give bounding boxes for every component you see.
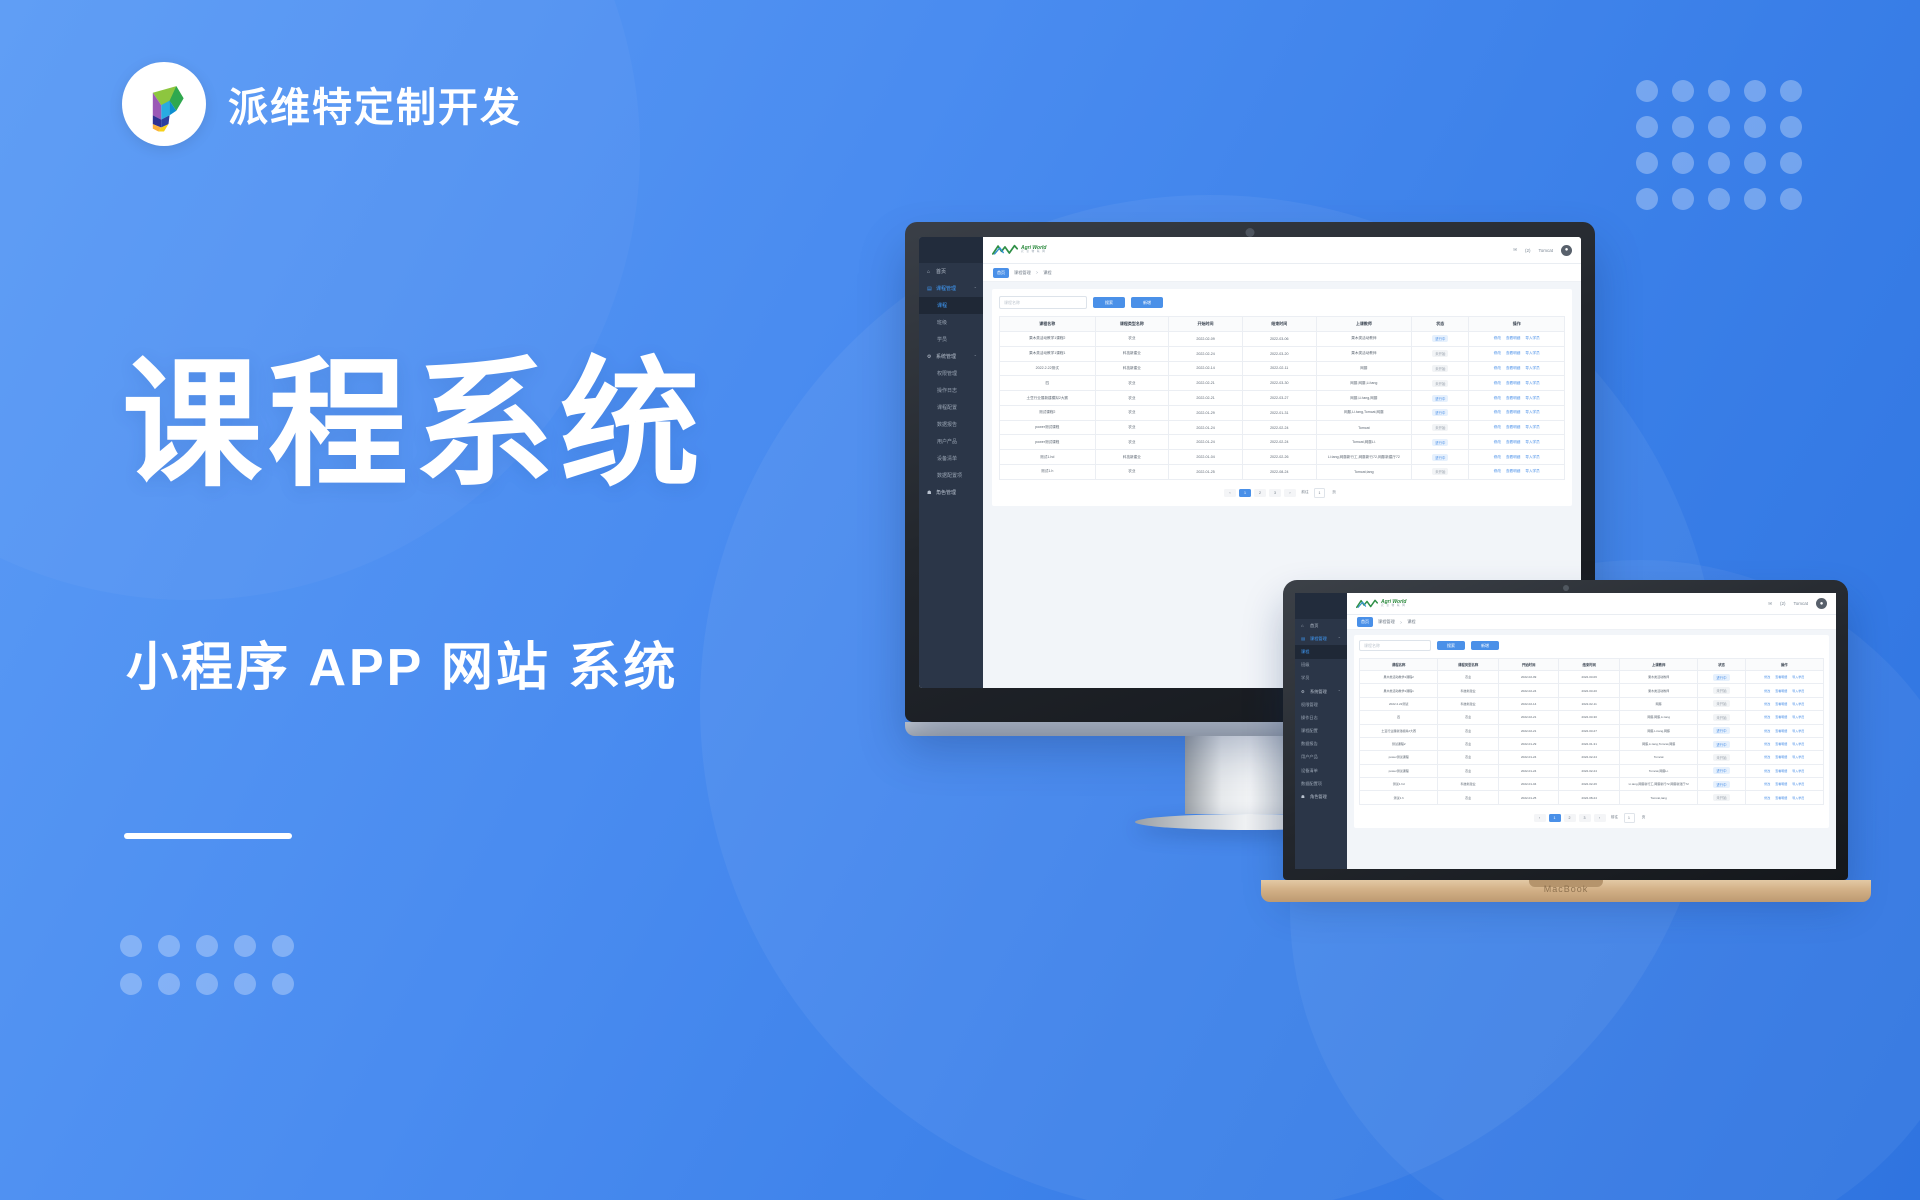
cell-end-time: 2022-02-26 xyxy=(1242,450,1316,465)
decor-dot xyxy=(1744,152,1766,174)
cell-teacher: Tomcat,tang xyxy=(1316,465,1412,480)
sidebar-item-5[interactable]: ⚙系统管理⌃ xyxy=(919,348,983,365)
operation-link-0[interactable]: 修改 xyxy=(1494,410,1501,414)
cell-operations: 修改查看明细导入学员 xyxy=(1469,332,1565,347)
sidebar-item-2[interactable]: 课程 xyxy=(1295,645,1347,658)
sidebar-item-label: 数据报告 xyxy=(937,421,957,428)
book-icon: ▤ xyxy=(927,286,933,292)
cell-end-time: 2022-03-20 xyxy=(1242,346,1316,361)
decor-dot xyxy=(1636,80,1658,102)
decor-dot xyxy=(120,935,142,957)
sidebar-item-1[interactable]: ▤课程管理⌃ xyxy=(919,280,983,297)
cell-operations: 修改查看明细导入学员 xyxy=(1469,346,1565,361)
cell-course-name: 测试1.hd xyxy=(1000,450,1096,465)
cell-start-time: 2022-02-21 xyxy=(1498,711,1559,724)
decor-dot xyxy=(1744,188,1766,210)
cell-start-time: 2022-02-24 xyxy=(1169,346,1243,361)
sidebar-item-1[interactable]: ▤课程管理⌃ xyxy=(1295,632,1347,645)
column-header-5: 状态 xyxy=(1698,659,1745,671)
cell-course-type: 农业 xyxy=(1095,420,1169,435)
cell-status: 进行中 xyxy=(1698,764,1745,777)
sidebar-item-label: 课程配置 xyxy=(937,404,957,411)
cell-end-time: 2022-02-24 xyxy=(1242,435,1316,450)
sidebar-item-6[interactable]: 权限管理 xyxy=(919,365,983,382)
pagination-goto-input[interactable]: 1 xyxy=(1314,488,1325,498)
chevron-up-icon[interactable]: ⌃ xyxy=(1338,689,1341,694)
cell-operations: 修改查看明细导入学员 xyxy=(1745,778,1823,791)
operation-link-1[interactable]: 查看明细 xyxy=(1506,366,1520,370)
brand-logo-icon xyxy=(122,62,206,146)
pagination-page-3[interactable]: 3 xyxy=(1579,814,1591,822)
user-name-laptop[interactable]: Tomcat xyxy=(1793,601,1808,606)
message-icon-laptop[interactable]: ✉ xyxy=(1768,601,1772,607)
operation-link-2[interactable]: 导入学员 xyxy=(1792,796,1804,800)
sidebar-item-label: 操作日志 xyxy=(937,387,957,394)
breadcrumb-current-laptop: 课程 xyxy=(1407,619,1415,625)
operation-link-2[interactable]: 导入学员 xyxy=(1792,782,1804,786)
operation-link-2[interactable]: 导入学员 xyxy=(1792,702,1804,706)
operation-link-0[interactable]: 修改 xyxy=(1494,455,1501,459)
topbar-right-cluster-laptop: ✉ (2) Tomcat ● xyxy=(1768,598,1827,609)
cell-teacher: Tomcat,tang xyxy=(1620,791,1698,804)
operation-link-1[interactable]: 查看明细 xyxy=(1775,675,1787,679)
decor-dot xyxy=(272,935,294,957)
pagination-prev-button[interactable]: ‹ xyxy=(1224,489,1236,497)
status-badge: 未开始 xyxy=(1713,794,1729,801)
cell-end-time: 2022-01-31 xyxy=(1242,405,1316,420)
cell-status: 进行中 xyxy=(1412,391,1469,406)
operation-link-2[interactable]: 导入学员 xyxy=(1792,729,1804,733)
sidebar-item-4[interactable]: 学员 xyxy=(1295,672,1347,685)
status-badge: 未开始 xyxy=(1713,714,1729,721)
status-badge: 进行中 xyxy=(1713,727,1729,734)
sidebar-item-13[interactable]: ☗角色管理 xyxy=(1295,790,1347,803)
cell-start-time: 2022-01-29 xyxy=(1169,405,1243,420)
operation-link-0[interactable]: 修改 xyxy=(1494,336,1501,340)
cell-end-time: 2022-02-26 xyxy=(1559,778,1620,791)
operation-link-1[interactable]: 查看明细 xyxy=(1506,410,1520,414)
table-row: 果木类活动教学1课程1科技新建业2022-02-242022-03-20果木类活… xyxy=(1000,346,1565,361)
app-sidebar-laptop[interactable]: ⌂首页▤课程管理⌃课程班级学员⚙系统管理⌃权限管理操作日志课程配置数据报告用户产… xyxy=(1295,593,1347,869)
cell-end-time: 2022-03-27 xyxy=(1559,724,1620,737)
status-badge: 进行中 xyxy=(1432,335,1448,342)
sidebar-item-3[interactable]: 班级 xyxy=(919,314,983,331)
gear-icon: ⚙ xyxy=(1301,689,1307,695)
column-header-5: 状态 xyxy=(1412,317,1469,332)
status-badge: 未开始 xyxy=(1432,468,1448,475)
operation-link-0[interactable]: 修改 xyxy=(1764,729,1770,733)
status-badge: 未开始 xyxy=(1432,350,1448,357)
operation-link-0[interactable]: 修改 xyxy=(1494,366,1501,370)
pagination-prev-button[interactable]: ‹ xyxy=(1534,814,1546,822)
operation-link-2[interactable]: 导入学员 xyxy=(1792,715,1804,719)
sidebar-menu-laptop[interactable]: ⌂首页▤课程管理⌃课程班级学员⚙系统管理⌃权限管理操作日志课程配置数据报告用户产… xyxy=(1295,619,1347,804)
operation-link-0[interactable]: 修改 xyxy=(1764,782,1770,786)
sidebar-item-3[interactable]: 班级 xyxy=(1295,659,1347,672)
cell-course-type: 科技新建业 xyxy=(1095,450,1169,465)
cell-start-time: 2022-02-14 xyxy=(1498,697,1559,710)
status-badge: 进行中 xyxy=(1432,395,1448,402)
operation-link-0[interactable]: 修改 xyxy=(1494,381,1501,385)
cell-operations: 修改查看明细导入学员 xyxy=(1745,724,1823,737)
cell-start-time: 2022-01-24 xyxy=(1169,435,1243,450)
operation-link-1[interactable]: 查看明细 xyxy=(1506,351,1520,355)
operation-link-2[interactable]: 导入学员 xyxy=(1525,381,1539,385)
sidebar-item-2[interactable]: 课程 xyxy=(919,297,983,314)
brand-name: 派维特定制开发 xyxy=(228,75,522,133)
cell-end-time: 2022-08-24 xyxy=(1242,465,1316,480)
status-badge: 未开始 xyxy=(1713,700,1729,707)
cell-start-time: 2022-01-25 xyxy=(1498,791,1559,804)
sidebar-item-4[interactable]: 学员 xyxy=(919,331,983,348)
cell-operations: 修改查看明细导入学员 xyxy=(1745,711,1823,724)
breadcrumb-home-chip[interactable]: 首页 xyxy=(993,268,1009,278)
sidebar-item-11[interactable]: 设备清单 xyxy=(1295,764,1347,777)
add-course-button[interactable]: 新增 xyxy=(1131,297,1163,308)
table-row: 四农业2022-02-212022-03-30网藤,网藤,Li.tang未开始修… xyxy=(1360,711,1824,724)
cell-course-name: power测试课程 xyxy=(1360,764,1438,777)
decor-dot xyxy=(272,973,294,995)
cell-end-time: 2022-02-11 xyxy=(1559,697,1620,710)
operation-link-1[interactable]: 查看明细 xyxy=(1506,336,1520,340)
operation-link-2[interactable]: 导入学员 xyxy=(1792,675,1804,679)
home-icon: ⌂ xyxy=(1301,623,1307,629)
cell-teacher: Tomcat,网藤Li. xyxy=(1620,764,1698,777)
table-row: 测试1.hd科技新建业2022-01-042022-02-26Li.tang,网… xyxy=(1360,778,1824,791)
sidebar-item-9[interactable]: 数据报告 xyxy=(919,416,983,433)
table-row: 2022.2.22测试科技新建业2022-02-142022-02-11网藤未开… xyxy=(1360,697,1824,710)
operation-link-0[interactable]: 修改 xyxy=(1764,702,1770,706)
breadcrumb-parent[interactable]: 课程管理 xyxy=(1014,270,1031,276)
sidebar-item-0[interactable]: ⌂首页 xyxy=(1295,619,1347,632)
cell-status: 进行中 xyxy=(1698,724,1745,737)
sidebar-item-11[interactable]: 设备清单 xyxy=(919,450,983,467)
cell-operations: 修改查看明细导入学员 xyxy=(1745,697,1823,710)
decor-dot xyxy=(1780,116,1802,138)
cell-status: 未开始 xyxy=(1412,346,1469,361)
laptop-base: MacBook xyxy=(1261,880,1871,902)
pagination-page-3[interactable]: 3 xyxy=(1269,489,1281,497)
sidebar-item-label: 用户产品 xyxy=(1301,754,1318,760)
decor-dot xyxy=(196,973,218,995)
pagination-page-1[interactable]: 1 xyxy=(1239,489,1251,497)
cell-status: 未开始 xyxy=(1698,711,1745,724)
decor-dot xyxy=(1636,116,1658,138)
operation-link-2[interactable]: 导入学员 xyxy=(1792,755,1804,759)
cell-course-type: 农业 xyxy=(1438,671,1499,684)
operation-link-2[interactable]: 导入学员 xyxy=(1525,410,1539,414)
cell-course-name: 果木类活动教学1课程2 xyxy=(1000,332,1096,347)
operation-link-1[interactable]: 查看明细 xyxy=(1506,440,1520,444)
pagination-goto-input[interactable]: 1 xyxy=(1624,813,1635,823)
status-badge: 进行中 xyxy=(1713,781,1729,788)
sidebar-item-label: 数据报告 xyxy=(1301,741,1318,747)
breadcrumb: 首页 课程管理 > 课程 xyxy=(983,264,1581,282)
sidebar-item-6[interactable]: 权限管理 xyxy=(1295,698,1347,711)
chevron-up-icon[interactable]: ⌃ xyxy=(1338,636,1341,641)
sidebar-item-10[interactable]: 用户产品 xyxy=(1295,751,1347,764)
sidebar-item-8[interactable]: 课程配置 xyxy=(1295,725,1347,738)
course-table-body-laptop: 果木类活动教学1课程2农业2022-02-092022-03-06果木类活动教师… xyxy=(1360,671,1824,805)
column-header-1: 课程类型名称 xyxy=(1095,317,1169,332)
cell-course-name: 测试课程2 xyxy=(1000,405,1096,420)
decor-dot xyxy=(234,935,256,957)
cell-operations: 修改查看明细导入学员 xyxy=(1745,684,1823,697)
status-badge: 未开始 xyxy=(1713,687,1729,694)
operation-link-2[interactable]: 导入学员 xyxy=(1525,351,1539,355)
sidebar-item-label: 操作日志 xyxy=(1301,715,1318,721)
operation-link-2[interactable]: 导入学员 xyxy=(1525,366,1539,370)
operation-link-2[interactable]: 导入学员 xyxy=(1525,336,1539,340)
operation-link-1[interactable]: 查看明细 xyxy=(1775,769,1787,773)
decor-dot xyxy=(196,935,218,957)
sidebar-item-label: 班级 xyxy=(937,319,947,326)
cell-start-time: 2022-01-24 xyxy=(1169,420,1243,435)
sidebar-item-5[interactable]: ⚙系统管理⌃ xyxy=(1295,685,1347,698)
cell-operations: 修改查看明细导入学员 xyxy=(1469,391,1565,406)
cell-course-type: 农业 xyxy=(1438,711,1499,724)
decor-dot xyxy=(1636,152,1658,174)
decor-dot xyxy=(1636,188,1658,210)
pagination[interactable]: ‹123›前往1页 xyxy=(999,488,1565,498)
cell-course-type: 科技新建业 xyxy=(1438,778,1499,791)
chevron-up-icon[interactable]: ⌃ xyxy=(974,354,977,359)
search-input-laptop[interactable]: 课程名称 xyxy=(1359,640,1431,651)
cell-operations: 修改查看明细导入学员 xyxy=(1745,764,1823,777)
status-badge: 进行中 xyxy=(1713,674,1729,681)
filter-toolbar-laptop: 课程名称 搜索 新增 xyxy=(1359,640,1824,651)
app-topbar-laptop: Agri World 农 业 物 联 网 ✉ (2) Tomcat ● xyxy=(1347,593,1836,615)
cell-end-time: 2022-01-31 xyxy=(1559,737,1620,750)
breadcrumb-home-chip-laptop[interactable]: 首页 xyxy=(1357,617,1373,627)
sidebar-logo-slot xyxy=(919,237,983,263)
app-sidebar[interactable]: ⌂首页▤课程管理⌃课程班级学员⚙系统管理⌃权限管理操作日志课程配置数据报告用户产… xyxy=(919,237,983,688)
course-table: 课程名称课程类型名称开始时间结束时间上课教师状态操作 果木类活动教学1课程2农业… xyxy=(999,316,1565,480)
monitor-camera-icon xyxy=(1246,228,1255,237)
cell-operations: 修改查看明细导入学员 xyxy=(1469,450,1565,465)
column-header-2: 开始时间 xyxy=(1169,317,1243,332)
brand-lockup: 派维特定制开发 xyxy=(122,62,522,146)
cell-end-time: 2022-03-30 xyxy=(1559,711,1620,724)
operation-link-0[interactable]: 修改 xyxy=(1764,715,1770,719)
table-row: 测试1.h农业2022-01-252022-08-24Tomcat,tang未开… xyxy=(1000,465,1565,480)
operation-link-0[interactable]: 修改 xyxy=(1494,351,1501,355)
cell-start-time: 2022-01-24 xyxy=(1498,751,1559,764)
cell-operations: 修改查看明细导入学员 xyxy=(1469,435,1565,450)
cell-operations: 修改查看明细导入学员 xyxy=(1745,751,1823,764)
app-main-laptop: Agri World 农 业 物 联 网 ✉ (2) Tomcat ● xyxy=(1347,593,1836,869)
column-header-3: 结束时间 xyxy=(1242,317,1316,332)
operation-link-1[interactable]: 查看明细 xyxy=(1506,425,1520,429)
operation-link-2[interactable]: 导入学员 xyxy=(1525,440,1539,444)
cell-start-time: 2022-02-14 xyxy=(1169,361,1243,376)
cell-teacher: 果木类活动教师 xyxy=(1620,671,1698,684)
cell-operations: 修改查看明细导入学员 xyxy=(1745,671,1823,684)
book-icon: ▤ xyxy=(1301,636,1307,642)
status-badge: 进行中 xyxy=(1432,439,1448,446)
sidebar-item-label: 设备清单 xyxy=(1301,768,1318,774)
table-row: 果木类活动教学1课程1科技新建业2022-02-242022-03-20果木类活… xyxy=(1360,684,1824,697)
sidebar-item-13[interactable]: ☗角色管理 xyxy=(919,484,983,501)
status-badge: 未开始 xyxy=(1432,424,1448,431)
cell-status: 未开始 xyxy=(1412,361,1469,376)
pagination-next-button[interactable]: › xyxy=(1594,814,1606,822)
operation-link-2[interactable]: 导入学员 xyxy=(1792,689,1804,693)
operation-link-1[interactable]: 查看明细 xyxy=(1775,689,1787,693)
cell-status: 进行中 xyxy=(1412,405,1469,420)
operation-link-0[interactable]: 修改 xyxy=(1764,689,1770,693)
operation-link-0[interactable]: 修改 xyxy=(1494,469,1501,473)
cell-operations: 修改查看明细导入学员 xyxy=(1745,737,1823,750)
pagination-goto-unit: 页 xyxy=(1638,814,1650,822)
cell-course-type: 农业 xyxy=(1095,405,1169,420)
table-row: power测试课程农业2022-01-242022-02-24Tomcat,网藤… xyxy=(1360,764,1824,777)
sidebar-item-0[interactable]: ⌂首页 xyxy=(919,263,983,280)
decor-dot xyxy=(158,973,180,995)
sidebar-item-label: 角色管理 xyxy=(936,489,956,496)
breadcrumb-parent-laptop[interactable]: 课程管理 xyxy=(1378,619,1395,625)
table-header-row-laptop: 课程名称课程类型名称开始时间结束时间上课教师状态操作 xyxy=(1360,659,1824,671)
operation-link-1[interactable]: 查看明细 xyxy=(1775,729,1787,733)
user-gear-icon: ☗ xyxy=(1301,794,1307,800)
sidebar-item-12[interactable]: 数据配置项 xyxy=(1295,777,1347,790)
operation-link-1[interactable]: 查看明细 xyxy=(1775,702,1787,706)
operation-link-0[interactable]: 修改 xyxy=(1764,675,1770,679)
search-button[interactable]: 搜索 xyxy=(1093,297,1125,308)
user-avatar-icon-laptop[interactable]: ● xyxy=(1816,598,1827,609)
sidebar-item-7[interactable]: 操作日志 xyxy=(919,382,983,399)
operation-link-1[interactable]: 查看明细 xyxy=(1506,396,1520,400)
cell-operations: 修改查看明细导入学员 xyxy=(1469,405,1565,420)
cell-end-time: 2022-03-20 xyxy=(1559,684,1620,697)
user-name[interactable]: Tomcat xyxy=(1538,248,1553,253)
gear-icon: ⚙ xyxy=(927,354,933,360)
sidebar-item-label: 角色管理 xyxy=(1310,794,1327,800)
pagination-goto-label: 前往 xyxy=(1609,814,1621,822)
operation-link-2[interactable]: 导入学员 xyxy=(1525,469,1539,473)
cell-teacher: 网藤 xyxy=(1620,697,1698,710)
sidebar-item-7[interactable]: 操作日志 xyxy=(1295,711,1347,724)
operation-link-0[interactable]: 修改 xyxy=(1764,755,1770,759)
operation-link-2[interactable]: 导入学员 xyxy=(1525,425,1539,429)
operation-link-2[interactable]: 导入学员 xyxy=(1525,455,1539,459)
sidebar-item-label: 系统管理 xyxy=(936,353,956,360)
sidebar-item-label: 系统管理 xyxy=(1310,689,1327,695)
sidebar-menu[interactable]: ⌂首页▤课程管理⌃课程班级学员⚙系统管理⌃权限管理操作日志课程配置数据报告用户产… xyxy=(919,263,983,501)
add-course-button-laptop[interactable]: 新增 xyxy=(1471,641,1499,650)
cell-course-name: 测试1.h xyxy=(1000,465,1096,480)
cell-status: 进行中 xyxy=(1698,671,1745,684)
column-header-6: 操作 xyxy=(1745,659,1823,671)
cell-start-time: 2022-02-21 xyxy=(1169,391,1243,406)
cell-course-name: 果木类活动教学1课程1 xyxy=(1360,684,1438,697)
sidebar-item-label: 首页 xyxy=(936,268,946,275)
decor-dot xyxy=(120,973,142,995)
sidebar-item-label: 首页 xyxy=(1310,623,1318,629)
cell-course-name: 土豆行业展新建模拟2大赛 xyxy=(1000,391,1096,406)
sidebar-item-label: 权限管理 xyxy=(937,370,957,377)
operation-link-2[interactable]: 导入学员 xyxy=(1525,396,1539,400)
user-avatar-icon[interactable]: ● xyxy=(1561,245,1572,256)
sidebar-item-label: 权限管理 xyxy=(1301,702,1318,708)
sidebar-item-8[interactable]: 课程配置 xyxy=(919,399,983,416)
message-icon[interactable]: ✉ xyxy=(1513,247,1517,253)
operation-link-0[interactable]: 修改 xyxy=(1764,796,1770,800)
search-button-laptop[interactable]: 搜索 xyxy=(1437,641,1465,650)
operation-link-1[interactable]: 查看明细 xyxy=(1775,742,1787,746)
pagination-next-button[interactable]: › xyxy=(1284,489,1296,497)
pagination-page-2[interactable]: 2 xyxy=(1564,814,1576,822)
cell-course-name: power测试课程 xyxy=(1000,435,1096,450)
course-table-laptop: 课程名称课程类型名称开始时间结束时间上课教师状态操作 果木类活动教学1课程2农业… xyxy=(1359,658,1824,805)
operation-link-1[interactable]: 查看明细 xyxy=(1775,715,1787,719)
decor-dot xyxy=(1708,116,1730,138)
table-row: 2022.2.22测试科技新建业2022-02-142022-02-11网藤未开… xyxy=(1000,361,1565,376)
cell-status: 进行中 xyxy=(1698,778,1745,791)
sidebar-item-10[interactable]: 用户产品 xyxy=(919,433,983,450)
course-table-head: 课程名称课程类型名称开始时间结束时间上课教师状态操作 xyxy=(1000,317,1565,332)
operation-link-0[interactable]: 修改 xyxy=(1764,742,1770,746)
cell-course-name: 果木类活动教学1课程2 xyxy=(1360,671,1438,684)
cell-start-time: 2022-02-09 xyxy=(1498,671,1559,684)
table-row: 测试1.h农业2022-01-252022-08-24Tomcat,tang未开… xyxy=(1360,791,1824,804)
cell-course-type: 科技新建业 xyxy=(1438,697,1499,710)
search-input[interactable]: 课程名称 xyxy=(999,296,1087,309)
cell-teacher: 网藤,网藤,Li.tang xyxy=(1620,711,1698,724)
table-row: 果木类活动教学1课程2农业2022-02-092022-03-06果木类活动教师… xyxy=(1360,671,1824,684)
operation-link-0[interactable]: 修改 xyxy=(1494,440,1501,444)
cell-end-time: 2022-02-24 xyxy=(1559,751,1620,764)
operation-link-1[interactable]: 查看明细 xyxy=(1506,381,1520,385)
column-header-0: 课程名称 xyxy=(1000,317,1096,332)
cell-end-time: 2022-03-27 xyxy=(1242,391,1316,406)
operation-link-2[interactable]: 导入学员 xyxy=(1792,742,1804,746)
pagination-laptop[interactable]: ‹123›前往1页 xyxy=(1359,813,1824,823)
decor-dot xyxy=(1780,152,1802,174)
laptop-brand-label: MacBook xyxy=(1544,884,1589,894)
operation-link-1[interactable]: 查看明细 xyxy=(1775,796,1787,800)
operation-link-1[interactable]: 查看明细 xyxy=(1506,455,1520,459)
sidebar-item-label: 用户产品 xyxy=(937,438,957,445)
operation-link-2[interactable]: 导入学员 xyxy=(1792,769,1804,773)
decor-dot xyxy=(1780,188,1802,210)
pagination-page-2[interactable]: 2 xyxy=(1254,489,1266,497)
pagination-page-1[interactable]: 1 xyxy=(1549,814,1561,822)
cell-operations: 修改查看明细导入学员 xyxy=(1469,376,1565,391)
status-badge: 未开始 xyxy=(1432,365,1448,372)
operation-link-0[interactable]: 修改 xyxy=(1494,425,1501,429)
table-row: 四农业2022-02-212022-03-30网藤,网藤,Li.tang未开始修… xyxy=(1000,376,1565,391)
operation-link-1[interactable]: 查看明细 xyxy=(1775,755,1787,759)
content-panel-laptop: 课程名称 搜索 新增 课程名称课程类型名称开始时间结束时间上课教师状态操作 果木… xyxy=(1354,635,1829,828)
app-topbar: Agri World 农 业 物 联 网 ✉ (2) Tomcat ● xyxy=(983,237,1581,264)
operation-link-0[interactable]: 修改 xyxy=(1764,769,1770,773)
breadcrumb-current: 课程 xyxy=(1043,270,1051,276)
content-panel: 课程名称 搜索 新增 课程名称课程类型名称开始时间结束时间上课教师状态操作 果木… xyxy=(992,289,1572,506)
cell-status: 进行中 xyxy=(1412,450,1469,465)
sidebar-item-12[interactable]: 数据配置项 xyxy=(919,467,983,484)
operation-link-0[interactable]: 修改 xyxy=(1494,396,1501,400)
cell-teacher: 网藤,Li.tang,网藤 xyxy=(1316,391,1412,406)
operation-link-1[interactable]: 查看明细 xyxy=(1506,469,1520,473)
operation-link-1[interactable]: 查看明细 xyxy=(1775,782,1787,786)
cell-start-time: 2022-01-04 xyxy=(1498,778,1559,791)
chevron-up-icon[interactable]: ⌃ xyxy=(974,286,977,291)
agri-world-logo-icon: Agri World 农 业 物 联 网 xyxy=(992,244,1046,256)
sidebar-logo-slot-laptop xyxy=(1295,593,1347,619)
status-badge: 未开始 xyxy=(1713,754,1729,761)
sidebar-item-9[interactable]: 数据报告 xyxy=(1295,738,1347,751)
